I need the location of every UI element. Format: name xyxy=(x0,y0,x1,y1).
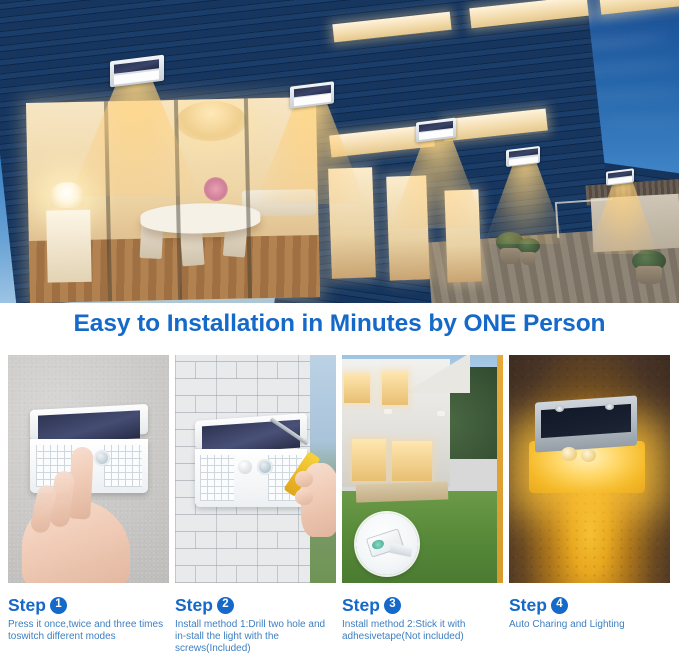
step-description: Install method 1:Drill two hole and in-s… xyxy=(175,619,331,656)
step-2: Step 2 Install method 1:Drill two hole a… xyxy=(175,594,336,656)
step-image-row xyxy=(8,355,671,583)
plant-pot xyxy=(500,248,520,264)
step-number-badge: 4 xyxy=(551,597,568,614)
step-description: Auto Charing and Lighting xyxy=(509,619,665,631)
step-3: Step 3 Install method 2:Stick it with ad… xyxy=(342,594,503,656)
doorway xyxy=(444,189,481,282)
solar-wall-light xyxy=(384,409,392,414)
button xyxy=(581,449,596,462)
finger xyxy=(295,489,313,505)
finger xyxy=(295,471,313,487)
step-label: Step xyxy=(175,594,213,616)
hero-image xyxy=(0,0,679,303)
step-1: Step 1 Press it once,twice and three tim… xyxy=(8,594,169,656)
step-caption-row: Step 1 Press it once,twice and three tim… xyxy=(8,594,671,656)
step-label: Step xyxy=(509,594,547,616)
interior-room xyxy=(26,97,320,303)
step-label: Step xyxy=(342,594,380,616)
solar-wall-light xyxy=(606,170,634,184)
led-array-right xyxy=(104,445,142,487)
step-number-badge: 3 xyxy=(384,597,401,614)
tape-callout xyxy=(356,513,418,575)
doorway xyxy=(386,175,430,280)
glass-door xyxy=(352,439,386,481)
button xyxy=(238,460,252,474)
mounting-screw xyxy=(605,403,614,410)
doorway xyxy=(328,167,376,278)
glass-door xyxy=(392,441,432,481)
solar-wall-light xyxy=(416,120,456,140)
tape-strip xyxy=(389,543,413,557)
step-title: Step 4 xyxy=(509,594,670,616)
panel-edge-accent xyxy=(497,355,503,583)
window xyxy=(344,373,370,403)
step-image-1 xyxy=(8,355,169,583)
plant-pot xyxy=(636,266,662,284)
solar-wall-light xyxy=(506,148,540,165)
solar-wall-light xyxy=(110,58,164,84)
led-array-left xyxy=(200,455,234,501)
deck-railing xyxy=(555,198,615,238)
solar-wall-light xyxy=(290,84,334,106)
patio xyxy=(356,481,449,502)
solar-wall-light xyxy=(535,399,637,449)
step-4: Step 4 Auto Charing and Lighting xyxy=(509,594,670,656)
window xyxy=(382,371,408,405)
step-title: Step 2 xyxy=(175,594,336,616)
step-image-2 xyxy=(175,355,336,583)
mounting-screw xyxy=(555,405,564,412)
motion-sensor xyxy=(94,450,110,466)
step-number-badge: 1 xyxy=(50,597,67,614)
step-title: Step 3 xyxy=(342,594,503,616)
motion-sensor xyxy=(561,447,577,461)
motion-sensor xyxy=(257,459,273,475)
step-title: Step 1 xyxy=(8,594,169,616)
lamp-pedestal xyxy=(46,210,91,283)
pendant-light xyxy=(176,100,247,141)
step-image-3 xyxy=(342,355,503,583)
solar-wall-light xyxy=(437,411,445,416)
step-image-4 xyxy=(509,355,670,583)
step-number-badge: 2 xyxy=(217,597,234,614)
flower-vase xyxy=(204,177,228,201)
step-description: Press it once,twice and three times tosw… xyxy=(8,619,164,643)
floor-lamp-shade xyxy=(50,182,85,209)
headline: Easy to Installation in Minutes by ONE P… xyxy=(0,310,679,338)
step-label: Step xyxy=(8,594,46,616)
step-description: Install method 2:Stick it with adhesivet… xyxy=(342,619,498,643)
